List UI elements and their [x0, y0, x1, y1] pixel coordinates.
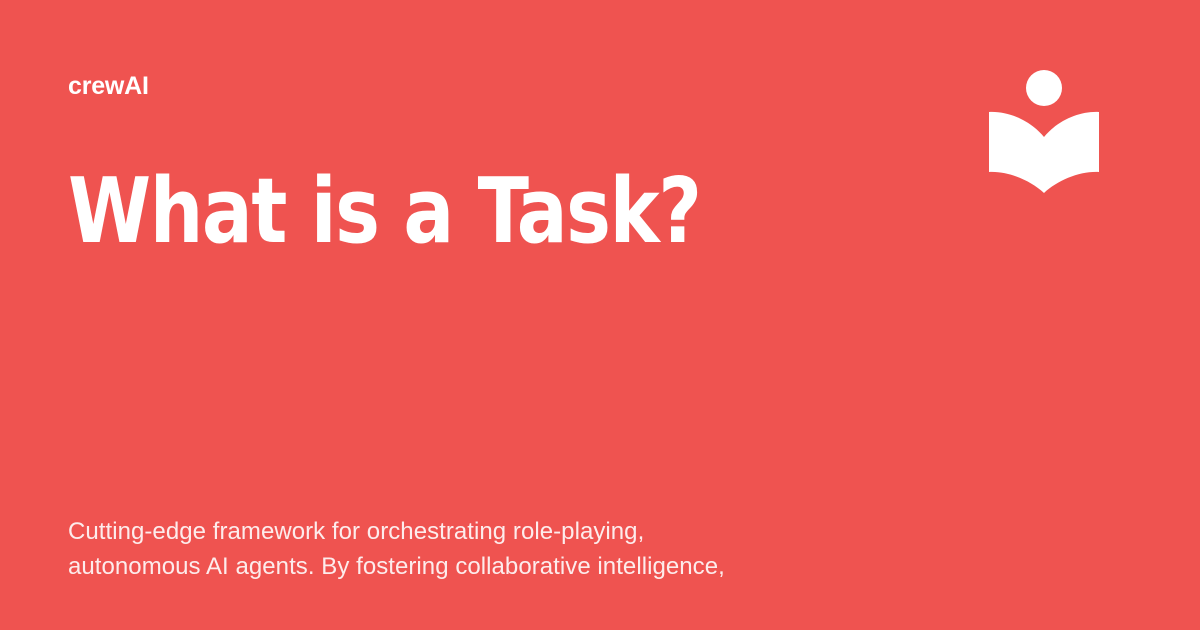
page-title: What is a Task? [68, 160, 924, 264]
brand-row: crewAI [68, 70, 1132, 110]
brand-name: crewAI [68, 70, 1132, 102]
open-graph-card: crewAI What is a Task? Cutting-edge fram… [0, 0, 1200, 630]
description-line-2: autonomous AI agents. By fostering colla… [68, 549, 868, 584]
description-line-1: Cutting-edge framework for orchestrating… [68, 514, 868, 549]
open-book-shape [989, 112, 1099, 193]
reader-head-circle [1026, 70, 1062, 106]
open-book-reader-icon [986, 66, 1104, 198]
description-text: Cutting-edge framework for orchestrating… [68, 514, 868, 584]
